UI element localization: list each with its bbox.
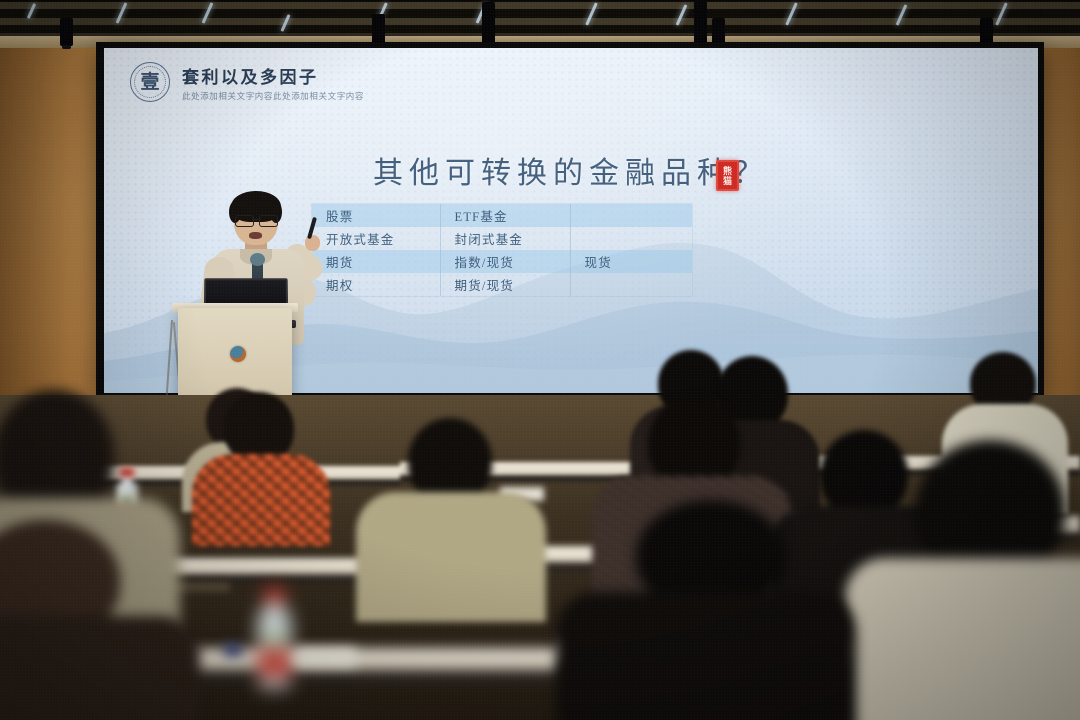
table-row: 期权 期货/现货 bbox=[312, 273, 692, 296]
audience-member bbox=[196, 392, 326, 542]
section-number-badge: 壹 bbox=[130, 62, 170, 102]
table-row: 开放式基金 封闭式基金 bbox=[312, 227, 692, 250]
table-row: 股票 ETF基金 bbox=[312, 204, 692, 227]
slide-header: 壹 套利以及多因子 此处添加相关文字内容此处添加相关文字内容 bbox=[130, 62, 364, 102]
audience-member bbox=[356, 418, 546, 618]
lecture-hall-photo: 壹 套利以及多因子 此处添加相关文字内容此处添加相关文字内容 其他可转换的金融品… bbox=[0, 0, 1080, 720]
stamp-char-2: 猫 bbox=[723, 176, 732, 186]
table-cell: 现货 bbox=[570, 250, 692, 273]
glasses-icon bbox=[235, 215, 278, 225]
table-cell: 封闭式基金 bbox=[440, 227, 570, 250]
table-row: 期货 指数/现货 现货 bbox=[312, 250, 692, 273]
presenter-mouth bbox=[249, 232, 262, 239]
slide-section-title: 套利以及多因子 bbox=[182, 63, 364, 88]
section-number-label: 壹 bbox=[140, 73, 159, 92]
track-light-fixture bbox=[482, 2, 495, 44]
table-cell: ETF基金 bbox=[440, 204, 570, 227]
marker-pen bbox=[224, 644, 242, 656]
table-cell: 期货/现货 bbox=[440, 273, 570, 296]
table-cell: 期权 bbox=[312, 273, 440, 296]
podium-emblem-icon bbox=[230, 346, 246, 362]
paper-sheet bbox=[296, 648, 356, 666]
audience-member bbox=[0, 520, 200, 720]
table-cell: 股票 bbox=[312, 204, 440, 227]
audience-member bbox=[845, 440, 1080, 720]
table-cell: 开放式基金 bbox=[312, 227, 440, 250]
slide-section-subtitle: 此处添加相关文字内容此处添加相关文字内容 bbox=[182, 90, 364, 102]
microphone-head bbox=[250, 253, 265, 266]
table-cell: 期货 bbox=[312, 250, 440, 273]
audience-member bbox=[556, 500, 856, 720]
slide-comparison-table: 股票 ETF基金 开放式基金 封闭式基金 期货 指数/现货 现货 bbox=[312, 204, 692, 296]
stamp-char-1: 熊 bbox=[723, 166, 732, 176]
table-cell bbox=[570, 204, 692, 227]
table-cell: 指数/现货 bbox=[440, 250, 570, 273]
track-light-fixture bbox=[60, 18, 73, 46]
slide-main-title: 其他可转换的金融品种？ bbox=[104, 148, 1038, 192]
table-cell bbox=[570, 227, 692, 250]
slide-table-body: 股票 ETF基金 开放式基金 封闭式基金 期货 指数/现货 现货 bbox=[312, 204, 692, 296]
table-cell bbox=[570, 273, 692, 296]
red-seal-stamp: 熊 猫 bbox=[716, 160, 739, 191]
